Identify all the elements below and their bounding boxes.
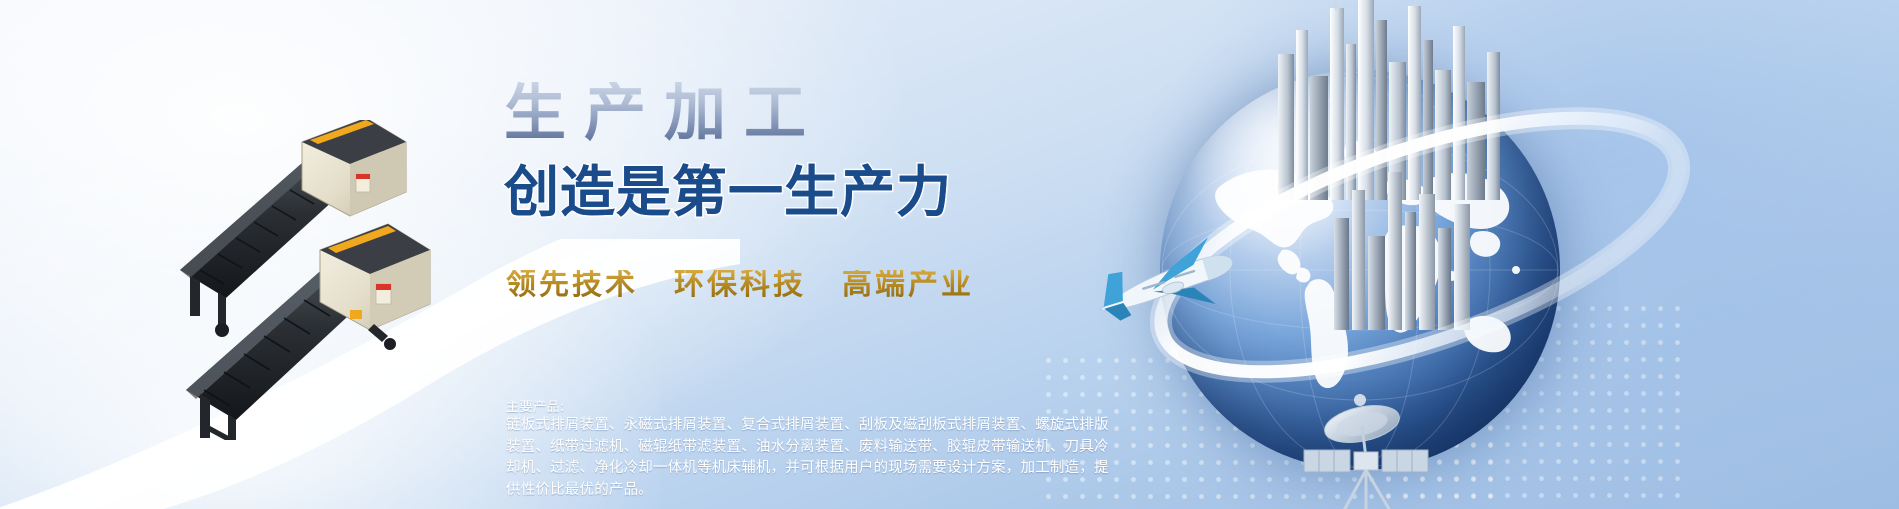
promo-banner: 生产加工 创造是第一生产力 创造是第一生产力 领先技术环保科技高端产业 主要产品… bbox=[0, 0, 1899, 509]
banner-subtitle: 创造是第一生产力 bbox=[504, 165, 952, 220]
banner-tagline: 领先技术环保科技高端产业 bbox=[506, 270, 974, 300]
tagline-item-2: 环保科技 bbox=[674, 267, 806, 302]
products-line-1: 链板式排屑装置、永磁式排屑装置、复合式排屑装置、刮板及磁刮板式排屑装置、螺旋式排… bbox=[506, 415, 1446, 437]
products-line-3: 却机、过滤、净化冷却一体机等机床辅机，并可根据用户的现场需要设计方案，加工制造，… bbox=[506, 458, 1446, 480]
products-line-2: 装置、纸带过滤机、磁辊纸带滤装置、油水分离装置、废料输送带、胶辊皮带输送机、刀具… bbox=[506, 437, 1446, 459]
products-label: 主要产品: bbox=[506, 396, 565, 415]
page-title: 生产加工 bbox=[504, 82, 824, 144]
tagline-item-1: 领先技术 bbox=[506, 267, 638, 302]
banner-text-block: 生产加工 创造是第一生产力 创造是第一生产力 领先技术环保科技高端产业 主要产品… bbox=[500, 0, 1480, 509]
products-description: 链板式排屑装置、永磁式排屑装置、复合式排屑装置、刮板及磁刮板式排屑装置、螺旋式排… bbox=[506, 415, 1446, 501]
products-line-4: 供性价比最优的产品。 bbox=[506, 480, 1446, 502]
tagline-item-3: 高端产业 bbox=[842, 267, 974, 302]
